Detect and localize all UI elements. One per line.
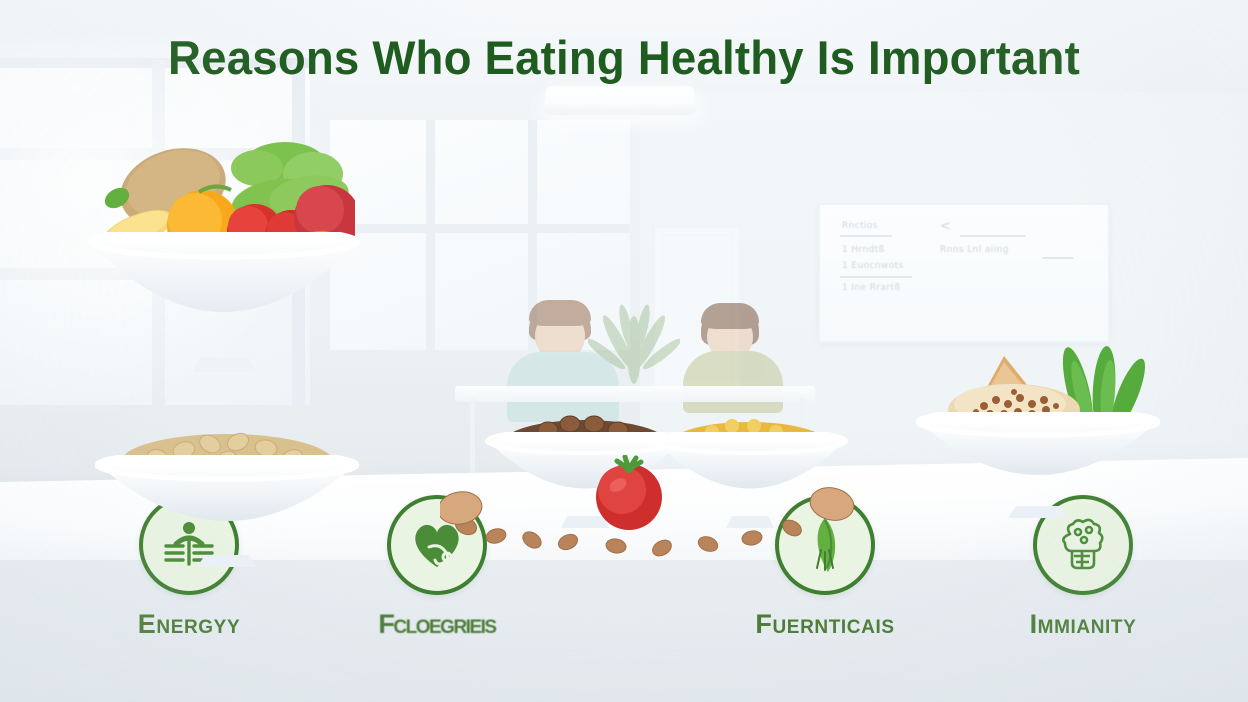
bowl-hummus-bread <box>916 412 1160 496</box>
benefit-label-energy: Energyy <box>89 609 289 640</box>
whiteboard-dash <box>1042 257 1074 259</box>
ceiling-light <box>543 86 697 114</box>
whiteboard: Rnctios 1 Hrndtß 1 Euocnwots 1 Ine Rrart… <box>818 203 1110 343</box>
benefit-label-nutrients: Fuernticais <box>725 609 925 640</box>
bowl-mixed-vegetables <box>88 240 360 340</box>
poster-canvas: Rnctios 1 Hrndtß 1 Euocnwots 1 Ine Rrart… <box>0 0 1248 702</box>
table-tomato <box>592 455 666 531</box>
whiteboard-item-2: 1 Euocnwots <box>842 261 904 271</box>
whiteboard-item-1: 1 Hrndtß <box>842 245 885 255</box>
whiteboard-heading: Rnctios <box>842 221 878 231</box>
whiteboard-underline-3 <box>960 235 1026 237</box>
background-table-leg-left <box>470 398 475 476</box>
whiteboard-item-3: 1 Ine Rrartß <box>842 283 901 293</box>
whiteboard-underline-2 <box>840 276 912 278</box>
whiteboard-underline <box>840 235 892 237</box>
benefit-label-heart: Fcloegrieis <box>337 609 537 640</box>
page-title: Reasons Who Eating Healthy Is Important <box>19 30 1230 85</box>
bowl-beige-beans <box>95 455 359 540</box>
benefit-label-immunity: Immianity <box>983 609 1183 640</box>
whiteboard-note: Rnns Lnl aiing <box>940 245 1009 255</box>
whiteboard-mark: < <box>940 219 951 234</box>
background-table <box>455 386 815 402</box>
